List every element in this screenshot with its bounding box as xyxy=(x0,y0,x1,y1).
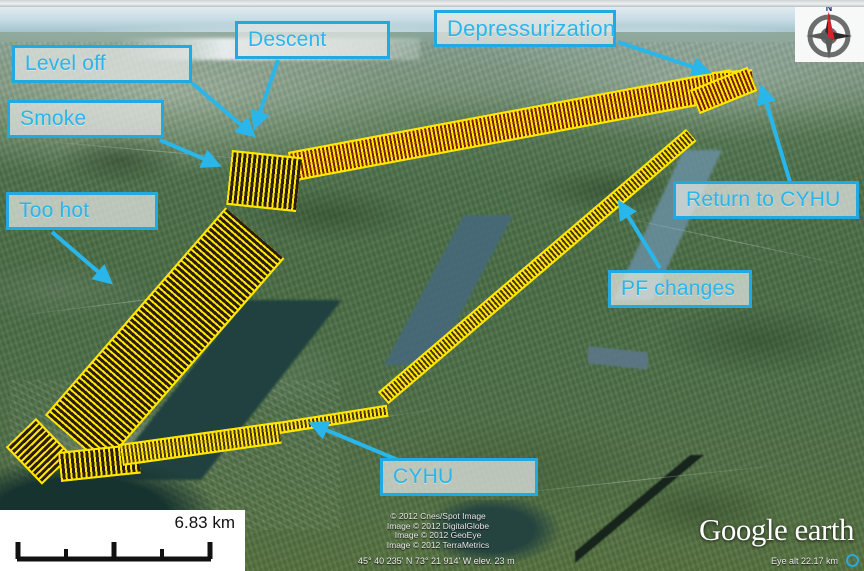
scale-bar-label: 6.83 km xyxy=(175,513,235,533)
callout-smoke-text: Smoke xyxy=(20,107,86,131)
status-indicator-icon xyxy=(846,554,859,567)
callout-cyhu-text: CYHU xyxy=(393,465,453,489)
scale-bar-ruler xyxy=(14,540,214,562)
eye-altitude-readout: Eye alt 22.17 km xyxy=(771,556,838,566)
callout-pf-changes[interactable]: PF changes xyxy=(608,270,752,308)
callout-smoke[interactable]: Smoke xyxy=(7,100,164,138)
callout-depressurization[interactable]: Depressurization xyxy=(434,10,616,47)
imagery-attribution: © 2012 Cnes/Spot Image Image © 2012 Digi… xyxy=(378,512,498,550)
google-earth-logo: Google earth xyxy=(699,512,854,548)
callout-too-hot-text: Too hot xyxy=(19,199,89,223)
callout-level-off[interactable]: Level off xyxy=(12,45,192,83)
compass-rose-icon[interactable]: N xyxy=(795,0,864,62)
callout-cyhu[interactable]: CYHU xyxy=(380,458,538,496)
attribution-line: Image © 2012 TerraMetrics xyxy=(378,541,498,551)
track-segment-knee xyxy=(226,150,301,212)
callout-too-hot[interactable]: Too hot xyxy=(6,192,158,230)
compass-widget[interactable]: N xyxy=(795,0,864,62)
coordinate-readout: 45° 40 235' N 73° 21 914' W elev. 23 m xyxy=(358,556,515,566)
scale-bar: 6.83 km xyxy=(0,510,245,571)
callout-depressurization-text: Depressurization xyxy=(447,16,615,42)
google-earth-viewport[interactable]: Level off Descent Depressurization Smoke… xyxy=(0,0,864,571)
creek-tail xyxy=(575,455,705,571)
callout-return-to-cyhu-text: Return to CYHU xyxy=(686,188,841,212)
callout-descent-text: Descent xyxy=(248,28,326,52)
callout-pf-changes-text: PF changes xyxy=(621,277,735,301)
window-top-edge xyxy=(0,0,864,7)
callout-level-off-text: Level off xyxy=(25,52,106,76)
callout-return-to-cyhu[interactable]: Return to CYHU xyxy=(673,181,859,219)
callout-descent[interactable]: Descent xyxy=(235,21,390,59)
